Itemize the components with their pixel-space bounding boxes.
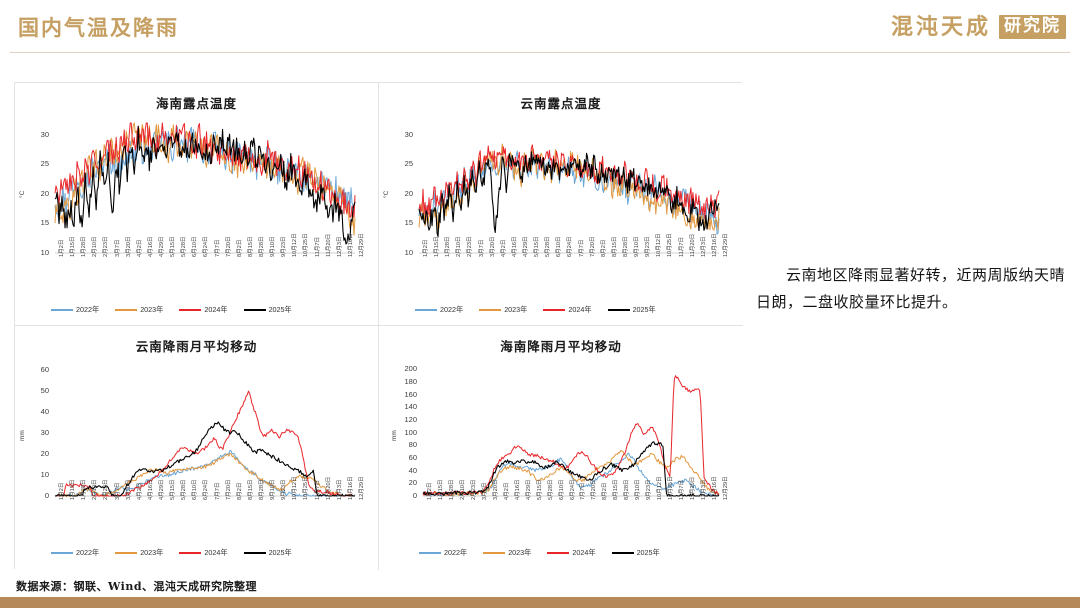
legend-swatch [115, 552, 137, 554]
y-axis-tick: 120 [391, 416, 417, 424]
x-axis-tick: 10月12日 [655, 476, 663, 500]
x-axis-tick: 3月20日 [124, 236, 132, 257]
y-axis-label: °C [19, 191, 26, 198]
logo-text: 混沌天成 [891, 16, 991, 38]
legend-label: 2022年 [76, 548, 99, 558]
chart-hainan-dewpoint: 海南露点温度 1015202530°C1月2日1月15日1月28日2月10日2月… [15, 83, 379, 326]
x-axis-tick: 5月28日 [179, 236, 187, 257]
x-axis-tick: 9月23日 [279, 479, 287, 500]
x-axis-tick: 7月7日 [213, 240, 221, 257]
x-axis-tick: 1月28日 [79, 236, 87, 257]
x-axis-tick: 4月2日 [135, 483, 143, 500]
x-axis-tick: 8月15日 [611, 479, 619, 500]
x-axis-tick: 8月15日 [610, 236, 618, 257]
legend-item-2023年[interactable]: 2023年 [483, 548, 531, 558]
header-divider [10, 52, 1070, 53]
legend-label: 2025年 [269, 548, 292, 558]
legend-swatch [608, 309, 630, 311]
x-axis-tick: 3月7日 [113, 483, 121, 500]
legend-item-2025年[interactable]: 2025年 [612, 548, 660, 558]
x-axis-tick: 8月28日 [257, 236, 265, 257]
legend-label: 2024年 [572, 548, 595, 558]
x-axis-tick: 4月29日 [157, 479, 165, 500]
y-axis-tick: 25 [387, 160, 413, 168]
x-axis-tick: 5月28日 [543, 236, 551, 257]
footer-bar [0, 597, 1080, 608]
x-axis-tick: 9月10日 [268, 479, 276, 500]
x-axis-tick: 7月20日 [224, 236, 232, 257]
x-axis-tick: 1月2日 [57, 240, 65, 257]
x-axis-tick: 3月20日 [491, 479, 499, 500]
y-axis-tick: 60 [391, 454, 417, 462]
x-axis-tick: 9月23日 [279, 236, 287, 257]
x-axis-tick: 9月10日 [633, 479, 641, 500]
y-axis-tick: 0 [23, 492, 49, 500]
x-axis-tick: 7月7日 [577, 240, 585, 257]
x-axis-tick: 11月20日 [324, 477, 332, 500]
legend-label: 2024年 [204, 305, 227, 315]
x-axis-tick: 4月16日 [513, 479, 521, 500]
charts-grid: 海南露点温度 1015202530°C1月2日1月15日1月28日2月10日2月… [14, 82, 742, 569]
x-axis-tick: 10月25日 [301, 233, 309, 257]
logo-badge: 研究院 [999, 15, 1066, 39]
x-axis-tick: 4月16日 [146, 236, 154, 257]
data-source-label: 数据来源：钢联、Wind、混沌天成研究院整理 [16, 578, 257, 594]
x-axis-tick: 12月3日 [699, 236, 707, 257]
x-axis-tick: 1月2日 [57, 483, 65, 500]
slide-page: 国内气温及降雨 混沌天成 研究院 海南露点温度 1015202530°C1月2日… [0, 0, 1080, 608]
y-axis-tick: 20 [391, 479, 417, 487]
x-axis-tick: 8月2日 [600, 483, 608, 500]
x-axis-tick: 5月15日 [532, 236, 540, 257]
x-axis-tick: 12月16日 [346, 233, 354, 257]
x-axis-tick: 1月2日 [421, 240, 429, 257]
x-axis-tick: 6月24日 [568, 479, 576, 500]
x-axis-tick: 1月28日 [79, 479, 87, 500]
y-axis-label: °C [383, 191, 390, 198]
x-axis-tick: 8月2日 [235, 483, 243, 500]
legend-swatch [51, 309, 73, 311]
legend-label: 2024年 [204, 548, 227, 558]
plot-area [379, 83, 743, 326]
legend-swatch [244, 552, 266, 554]
x-axis-tick: 12月3日 [335, 236, 343, 257]
x-axis-tick: 5月15日 [168, 236, 176, 257]
legend-item-2024年[interactable]: 2024年 [179, 305, 227, 315]
x-axis-tick: 10月12日 [290, 476, 298, 500]
x-axis-tick: 10月25日 [665, 233, 673, 257]
page-header: 国内气温及降雨 混沌天成 研究院 [0, 0, 1080, 56]
x-axis-tick: 4月29日 [157, 236, 165, 257]
x-axis-tick: 11月20日 [688, 234, 696, 257]
series-line-2024年 [423, 376, 719, 496]
x-axis-tick: 6月10日 [190, 236, 198, 257]
x-axis-tick: 9月10日 [632, 236, 640, 257]
brand-logo: 混沌天成 研究院 [891, 10, 1066, 44]
commentary-text: 云南地区降雨显著好转，近两周版纳天晴日朗，二盘收胶量环比提升。 [756, 262, 1066, 315]
x-axis-tick: 9月23日 [644, 479, 652, 500]
x-axis-tick: 12月16日 [710, 476, 718, 500]
y-axis-tick: 30 [23, 429, 49, 437]
y-axis-tick: 15 [23, 219, 49, 227]
x-axis-tick: 11月7日 [313, 480, 321, 500]
y-axis-label: mm [391, 430, 398, 441]
x-axis-tick: 2月23日 [469, 479, 477, 500]
y-axis-tick: 20 [387, 190, 413, 198]
y-axis-tick: 10 [23, 249, 49, 257]
x-axis-tick: 3月20日 [488, 236, 496, 257]
legend-swatch [612, 552, 634, 554]
x-axis-tick: 1月28日 [447, 479, 455, 500]
y-axis-tick: 180 [391, 378, 417, 386]
x-axis-tick: 2月10日 [458, 479, 466, 500]
legend-swatch [244, 309, 266, 311]
plot-area [379, 326, 743, 569]
y-axis-tick: 40 [23, 408, 49, 416]
x-axis-tick: 10月25日 [301, 476, 309, 500]
y-axis-tick: 15 [387, 219, 413, 227]
x-axis-tick: 12月29日 [721, 233, 729, 257]
x-axis-tick: 10月12日 [654, 233, 662, 257]
x-axis-tick: 1月2日 [425, 483, 433, 500]
x-axis-tick: 12月29日 [357, 476, 365, 500]
x-axis-tick: 4月29日 [521, 236, 529, 257]
plot-canvas [15, 326, 378, 569]
x-axis-tick: 4月29日 [524, 479, 532, 500]
x-axis-tick: 6月10日 [557, 479, 565, 500]
legend-swatch [115, 309, 137, 311]
page-title: 国内气温及降雨 [18, 12, 179, 42]
x-axis-tick: 12月29日 [357, 233, 365, 257]
x-axis-tick: 8月15日 [246, 479, 254, 500]
x-axis-tick: 6月10日 [190, 479, 198, 500]
y-axis-label: mm [19, 430, 26, 441]
y-axis-tick: 0 [391, 492, 417, 500]
y-axis-tick: 10 [23, 471, 49, 479]
chart-legend: 2022年2023年2024年2025年 [51, 305, 292, 315]
x-axis-tick: 6月24日 [201, 479, 209, 500]
plot-area [15, 83, 378, 326]
x-axis-tick: 1月15日 [432, 236, 440, 257]
x-axis-tick: 8月2日 [599, 240, 607, 257]
plot-canvas [379, 83, 743, 326]
legend-swatch [419, 552, 441, 554]
y-axis-tick: 10 [387, 249, 413, 257]
legend-item-2025年[interactable]: 2025年 [608, 305, 656, 315]
x-axis-tick: 4月16日 [146, 479, 154, 500]
legend-swatch [479, 309, 501, 311]
legend-item-2023年[interactable]: 2023年 [479, 305, 527, 315]
x-axis-tick: 12月3日 [335, 479, 343, 500]
legend-swatch [483, 552, 505, 554]
y-axis-tick: 30 [387, 131, 413, 139]
x-axis-tick: 2月23日 [101, 236, 109, 257]
legend-swatch [547, 552, 569, 554]
series-line-2022年 [419, 151, 719, 234]
y-axis-tick: 140 [391, 403, 417, 411]
legend-label: 2023年 [504, 305, 527, 315]
x-axis-tick: 8月2日 [235, 240, 243, 257]
y-axis-tick: 20 [23, 190, 49, 198]
legend-swatch [543, 309, 565, 311]
chart-hainan-rainfall: 海南降雨月平均移动 020406080100120140160180200mm1… [379, 326, 743, 570]
x-axis-tick: 11月20日 [688, 477, 696, 500]
legend-item-2024年[interactable]: 2024年 [543, 305, 591, 315]
legend-swatch [179, 552, 201, 554]
x-axis-tick: 11月7日 [313, 237, 321, 257]
x-axis-tick: 7月7日 [213, 483, 221, 500]
legend-item-2022年[interactable]: 2022年 [51, 305, 99, 315]
x-axis-tick: 5月28日 [546, 479, 554, 500]
plot-area [15, 326, 378, 569]
x-axis-tick: 2月23日 [101, 479, 109, 500]
legend-label: 2023年 [140, 548, 163, 558]
chart-legend: 2022年2023年2024年2025年 [415, 305, 656, 315]
x-axis-tick: 12月16日 [346, 476, 354, 500]
x-axis-tick: 7月20日 [589, 479, 597, 500]
x-axis-tick: 2月10日 [90, 479, 98, 500]
x-axis-tick: 7月7日 [578, 483, 586, 500]
legend-item-2023年[interactable]: 2023年 [115, 548, 163, 558]
legend-label: 2025年 [269, 305, 292, 315]
x-axis-tick: 1月15日 [68, 479, 76, 500]
x-axis-tick: 11月20日 [324, 234, 332, 257]
y-axis-tick: 25 [23, 160, 49, 168]
y-axis-tick: 80 [391, 441, 417, 449]
y-axis-tick: 160 [391, 391, 417, 399]
x-axis-tick: 9月10日 [268, 236, 276, 257]
x-axis-tick: 9月23日 [643, 236, 651, 257]
y-axis-tick: 40 [391, 467, 417, 475]
legend-label: 2023年 [508, 548, 531, 558]
x-axis-tick: 8月28日 [257, 479, 265, 500]
x-axis-tick: 3月7日 [477, 240, 485, 257]
legend-label: 2025年 [633, 305, 656, 315]
x-axis-tick: 12月29日 [721, 476, 729, 500]
legend-item-2022年[interactable]: 2022年 [415, 305, 463, 315]
x-axis-tick: 7月20日 [224, 479, 232, 500]
x-axis-tick: 8月28日 [621, 236, 629, 257]
y-axis-tick: 60 [23, 366, 49, 374]
legend-item-2025年[interactable]: 2025年 [244, 305, 292, 315]
x-axis-tick: 8月28日 [622, 479, 630, 500]
x-axis-tick: 11月7日 [677, 237, 685, 257]
legend-item-2022年[interactable]: 2022年 [51, 548, 99, 558]
plot-canvas [379, 326, 743, 569]
y-axis-tick: 20 [23, 450, 49, 458]
x-axis-tick: 12月16日 [710, 233, 718, 257]
legend-item-2024年[interactable]: 2024年 [547, 548, 595, 558]
x-axis-tick: 10月12日 [290, 233, 298, 257]
x-axis-tick: 3月7日 [113, 240, 121, 257]
x-axis-tick: 10月25日 [666, 476, 674, 500]
legend-swatch [51, 552, 73, 554]
chart-yunnan-rainfall: 云南降雨月平均移动 0102030405060mm1月2日1月15日1月28日2… [15, 326, 379, 570]
legend-label: 2024年 [568, 305, 591, 315]
legend-label: 2025年 [637, 548, 660, 558]
x-axis-tick: 2月23日 [465, 236, 473, 257]
x-axis-tick: 12月3日 [699, 479, 707, 500]
x-axis-tick: 3月20日 [124, 479, 132, 500]
x-axis-tick: 6月24日 [201, 236, 209, 257]
x-axis-tick: 3月7日 [480, 483, 488, 500]
legend-swatch [415, 309, 437, 311]
legend-item-2024年[interactable]: 2024年 [179, 548, 227, 558]
x-axis-tick: 6月24日 [565, 236, 573, 257]
x-axis-tick: 4月2日 [502, 483, 510, 500]
legend-label: 2022年 [76, 305, 99, 315]
x-axis-tick: 4月2日 [135, 240, 143, 257]
x-axis-tick: 2月10日 [90, 236, 98, 257]
legend-label: 2022年 [440, 305, 463, 315]
x-axis-tick: 5月15日 [168, 479, 176, 500]
y-axis-tick: 200 [391, 365, 417, 373]
legend-item-2025年[interactable]: 2025年 [244, 548, 292, 558]
y-axis-tick: 50 [23, 387, 49, 395]
chart-legend: 2022年2023年2024年2025年 [51, 548, 292, 558]
plot-canvas [15, 83, 378, 326]
legend-swatch [179, 309, 201, 311]
x-axis-tick: 6月10日 [554, 236, 562, 257]
x-axis-tick: 11月7日 [677, 480, 685, 500]
y-axis-tick: 30 [23, 131, 49, 139]
legend-label: 2023年 [140, 305, 163, 315]
x-axis-tick: 1月15日 [436, 479, 444, 500]
legend-label: 2022年 [444, 548, 467, 558]
x-axis-tick: 5月15日 [535, 479, 543, 500]
legend-item-2023年[interactable]: 2023年 [115, 305, 163, 315]
x-axis-tick: 7月20日 [588, 236, 596, 257]
chart-legend: 2022年2023年2024年2025年 [419, 548, 660, 558]
x-axis-tick: 8月15日 [246, 236, 254, 257]
x-axis-tick: 5月28日 [179, 479, 187, 500]
x-axis-tick: 2月10日 [454, 236, 462, 257]
chart-yunnan-dewpoint: 云南露点温度 1015202530°C1月2日1月15日1月28日2月10日2月… [379, 83, 743, 326]
x-axis-tick: 4月2日 [499, 240, 507, 257]
legend-item-2022年[interactable]: 2022年 [419, 548, 467, 558]
x-axis-tick: 4月16日 [510, 236, 518, 257]
x-axis-tick: 1月28日 [443, 236, 451, 257]
x-axis-tick: 1月15日 [68, 236, 76, 257]
